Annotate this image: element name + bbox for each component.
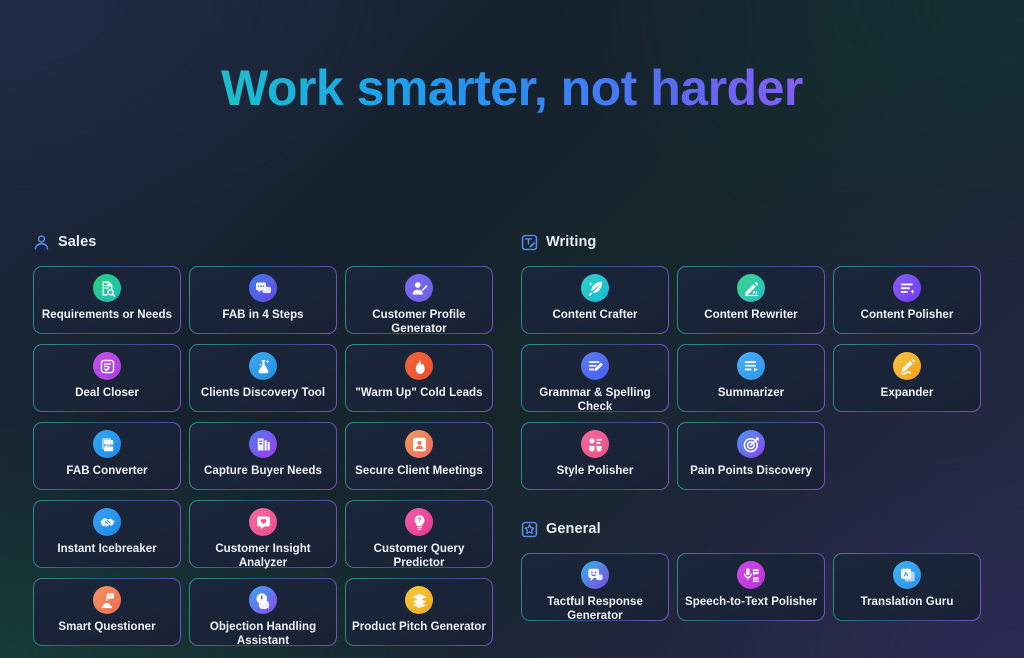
tool-card-label: Smart Questioner	[54, 621, 159, 635]
tool-card-label: Product Pitch Generator	[348, 621, 490, 635]
tool-card[interactable]: ATranslation Guru	[833, 553, 981, 621]
tool-card[interactable]: FABFAB Converter	[33, 422, 181, 490]
tool-card[interactable]: CxSpeech-to-Text Polisher	[677, 553, 825, 621]
target-arrow-icon	[737, 430, 765, 458]
section-title-sales: Sales	[58, 234, 96, 250]
tool-card[interactable]: ?Smart Questioner	[33, 578, 181, 646]
tool-card[interactable]: Requirements or Needs	[33, 266, 181, 334]
tool-card-label: Customer Profile Generator	[346, 309, 492, 337]
tool-card[interactable]: "Warm Up" Cold Leads	[345, 344, 493, 412]
tool-card-label: Deal Closer	[71, 387, 143, 401]
tool-card-body: Content Crafter	[522, 267, 668, 333]
tool-card-body: Customer Insight Analyzer	[190, 501, 336, 567]
svg-text:A: A	[903, 571, 908, 578]
svg-text:FAB: FAB	[103, 443, 113, 448]
tool-card-body: Objection Handling Assistant	[190, 579, 336, 645]
section-header-sales: Sales	[33, 228, 501, 256]
tool-card-label: Speech-to-Text Polisher	[681, 596, 821, 610]
tool-card-body: Style Polisher	[522, 423, 668, 489]
tool-card-body: Pain Points Discovery	[678, 423, 824, 489]
tool-card[interactable]: Clients Discovery Tool	[189, 344, 337, 412]
tool-card-body: ATranslation Guru	[834, 554, 980, 620]
expand-pen-icon	[893, 352, 921, 380]
tool-card-label: Clients Discovery Tool	[197, 387, 329, 401]
tool-card-label: FAB Converter	[62, 465, 151, 479]
tool-card-label: Summarizer	[714, 387, 788, 401]
summary-lines-icon	[737, 352, 765, 380]
tool-card-body: AIContent Rewriter	[678, 267, 824, 333]
tool-card[interactable]: Customer Profile Generator	[345, 266, 493, 334]
tool-card-label: Translation Guru	[857, 596, 958, 610]
tool-card[interactable]: Content Polisher	[833, 266, 981, 334]
tool-card[interactable]: Expander	[833, 344, 981, 412]
tool-card-label: Style Polisher	[553, 465, 638, 479]
tool-card[interactable]: AIContent Rewriter	[677, 266, 825, 334]
quill-sparkle-icon	[581, 274, 609, 302]
sections-container: SalesRequirements or NeedsFAB in 4 Steps…	[33, 228, 991, 646]
tool-card-label: Tactful Response Generator	[522, 596, 668, 624]
tool-card-label: Customer Query Predictor	[346, 543, 492, 571]
smiley-chat-icon	[581, 561, 609, 589]
tool-card-body: FAB in 4 Steps	[190, 267, 336, 333]
tool-card-label: Secure Client Meetings	[351, 465, 487, 479]
magic-flask-icon	[249, 352, 277, 380]
person-profile-icon	[405, 274, 433, 302]
left-column: SalesRequirements or NeedsFAB in 4 Steps…	[33, 228, 501, 646]
tool-card[interactable]: Capture Buyer Needs	[189, 422, 337, 490]
tool-card-body: FABFAB Converter	[34, 423, 180, 489]
tool-card[interactable]: FAB in 4 Steps	[189, 266, 337, 334]
alert-chat-icon	[249, 586, 277, 614]
tool-card-label: Objection Handling Assistant	[190, 621, 336, 649]
ai-pencil-icon: AI	[737, 274, 765, 302]
tool-card-body: Secure Client Meetings	[346, 423, 492, 489]
bar-book-icon	[249, 430, 277, 458]
tool-card-label: Grammar & Spelling Check	[522, 387, 668, 415]
tool-card-label: "Warm Up" Cold Leads	[351, 387, 486, 401]
tool-card-body: Product Pitch Generator	[346, 579, 492, 645]
right-column: WritingContent CrafterAIContent Rewriter…	[521, 228, 989, 646]
tool-card-body: Requirements or Needs	[34, 267, 180, 333]
tool-card[interactable]: Secure Client Meetings	[345, 422, 493, 490]
tool-card[interactable]: Instant Icebreaker	[33, 500, 181, 568]
card-grid-writing: Content CrafterAIContent RewriterContent…	[521, 266, 989, 490]
tool-card-label: Requirements or Needs	[38, 309, 176, 323]
flame-icon	[405, 352, 433, 380]
section-header-general: General	[521, 515, 989, 543]
page-title: Work smarter, not harder	[0, 60, 1024, 118]
tool-card-body: ?Customer Query Predictor	[346, 501, 492, 567]
tool-card-body: Summarizer	[678, 345, 824, 411]
checklist-badge-icon	[93, 352, 121, 380]
tool-card-body: ?Smart Questioner	[34, 579, 180, 645]
translate-card-icon: A	[893, 561, 921, 589]
card-grid-sales: Requirements or NeedsFAB in 4 StepsCusto…	[33, 266, 501, 646]
contact-card-icon	[405, 430, 433, 458]
chat-bubbles-icon	[249, 274, 277, 302]
tool-card-label: Pain Points Discovery	[686, 465, 816, 479]
tool-card-label: Instant Icebreaker	[53, 543, 160, 557]
tool-card[interactable]: Deal Closer	[33, 344, 181, 412]
card-grid-general: Tactful Response GeneratorCxSpeech-to-Te…	[521, 553, 989, 621]
svg-text:?: ?	[417, 518, 421, 524]
lines-sparkle-icon	[893, 274, 921, 302]
user-icon	[33, 234, 50, 251]
tool-card-body: "Warm Up" Cold Leads	[346, 345, 492, 411]
document-search-icon	[93, 274, 121, 302]
mic-text-icon: Cx	[737, 561, 765, 589]
section-header-writing: Writing	[521, 228, 989, 256]
tool-card-body: Clients Discovery Tool	[190, 345, 336, 411]
section-title-general: General	[546, 521, 601, 537]
tool-card[interactable]: Grammar & Spelling Check	[521, 344, 669, 412]
tool-card[interactable]: Product Pitch Generator	[345, 578, 493, 646]
tool-card-label: Customer Insight Analyzer	[190, 543, 336, 571]
stacked-papers-icon	[405, 586, 433, 614]
fab-doc-icon: FAB	[93, 430, 121, 458]
style-blocks-icon	[581, 430, 609, 458]
star-box-icon	[521, 521, 538, 538]
tool-card[interactable]: Style Polisher	[521, 422, 669, 490]
tool-card-label: FAB in 4 Steps	[218, 309, 307, 323]
tool-card-body: Customer Profile Generator	[346, 267, 492, 333]
tool-card-body: Deal Closer	[34, 345, 180, 411]
tool-card[interactable]: ?Customer Query Predictor	[345, 500, 493, 568]
tool-card-body: Expander	[834, 345, 980, 411]
tool-card[interactable]: Customer Insight Analyzer	[189, 500, 337, 568]
tool-card-body: Capture Buyer Needs	[190, 423, 336, 489]
tool-card-label: Capture Buyer Needs	[200, 465, 326, 479]
tool-card-label: Content Polisher	[857, 309, 958, 323]
text-edit-icon	[521, 234, 538, 251]
tool-card[interactable]: Content Crafter	[521, 266, 669, 334]
tool-card[interactable]: Objection Handling Assistant	[189, 578, 337, 646]
edit-lines-icon	[581, 352, 609, 380]
tool-card-body: CxSpeech-to-Text Polisher	[678, 554, 824, 620]
tool-card-body: Tactful Response Generator	[522, 554, 668, 620]
svg-text:AI: AI	[752, 289, 757, 294]
podium-question-icon: ?	[93, 586, 121, 614]
tool-card[interactable]: Pain Points Discovery	[677, 422, 825, 490]
handshake-icon	[93, 508, 121, 536]
tool-card-body: Content Polisher	[834, 267, 980, 333]
tool-card-body: Instant Icebreaker	[34, 501, 180, 567]
tool-card-body: Grammar & Spelling Check	[522, 345, 668, 411]
question-bulb-icon: ?	[405, 508, 433, 536]
tool-card-label: Content Rewriter	[700, 309, 801, 323]
tool-card-label: Content Crafter	[548, 309, 641, 323]
tool-card[interactable]: Summarizer	[677, 344, 825, 412]
tool-card[interactable]: Tactful Response Generator	[521, 553, 669, 621]
tool-card-label: Expander	[877, 387, 938, 401]
heart-message-icon	[249, 508, 277, 536]
section-title-writing: Writing	[546, 234, 596, 250]
